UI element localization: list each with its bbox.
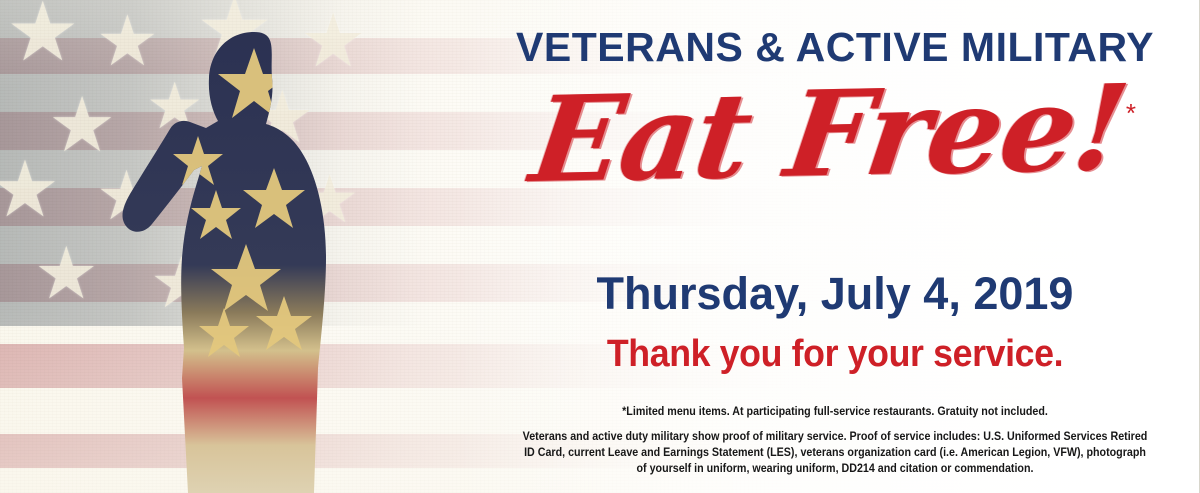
- gratitude-message: Thank you for your service.: [492, 333, 1178, 376]
- disclaimer-line: Veterans and active duty military show p…: [496, 429, 1175, 445]
- banner-text-content: VETERANS & ACTIVE MILITARY Eat Free!* Th…: [470, 0, 1200, 493]
- disclaimer-block: *Limited menu items. At participating fu…: [496, 404, 1175, 477]
- disclaimer-line: ID Card, current Leave and Earnings Stat…: [496, 445, 1175, 461]
- disclaimer-lead: *Limited menu items. At participating fu…: [496, 404, 1175, 420]
- saluting-soldier-silhouette: [78, 18, 408, 493]
- proof-of-service-text: Veterans and active duty military show p…: [496, 429, 1175, 477]
- offer-headline: Eat Free!: [525, 66, 1134, 202]
- offer-headline-wrap: Eat Free!*: [470, 72, 1200, 196]
- event-date: Thursday, July 4, 2019: [470, 268, 1200, 320]
- disclaimer-line: of yourself in uniform, wearing uniform,…: [496, 461, 1175, 477]
- promo-banner: ★ ★ ★ ★ ★ ★ ★ ★ ★ ★ ★ ★ ★ ★: [0, 0, 1200, 493]
